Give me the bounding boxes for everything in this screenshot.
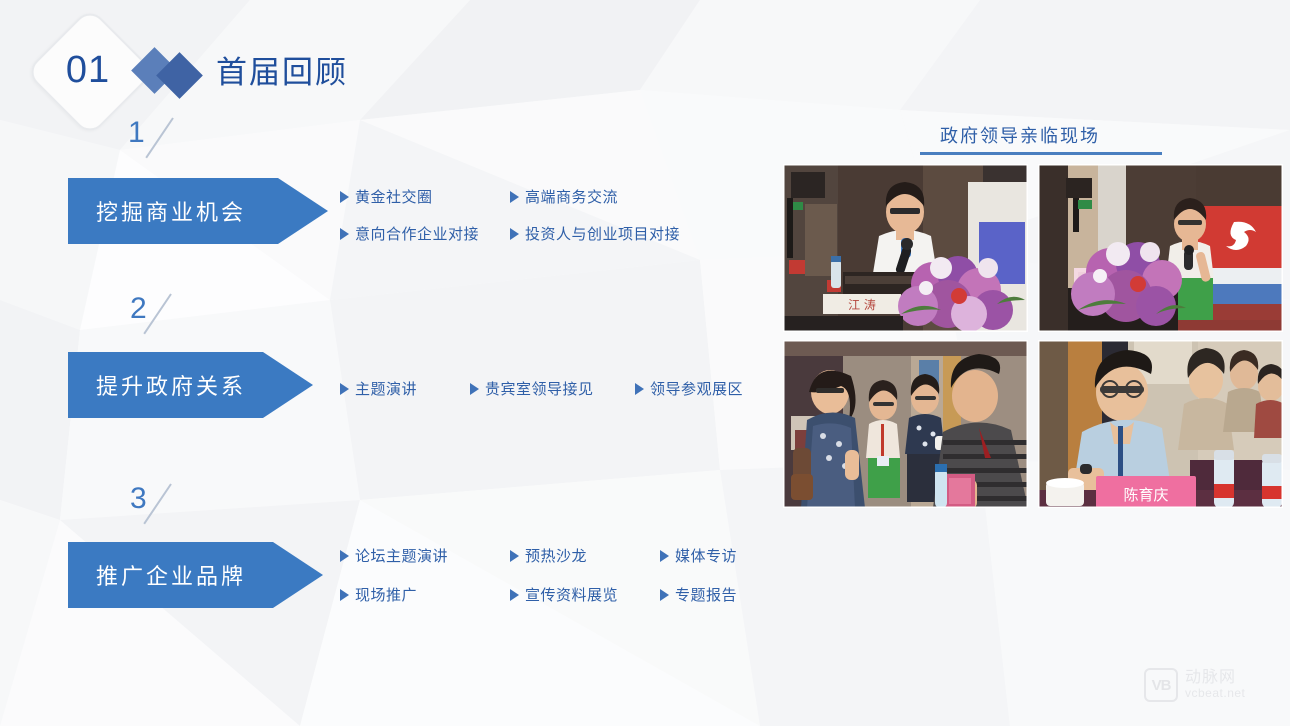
step-number-2: 2 [130, 294, 147, 324]
triangle-bullet-icon [510, 191, 519, 203]
bullet-label: 投资人与创业项目对接 [525, 223, 680, 244]
gallery-title: 政府领导亲临现场 [940, 122, 1100, 148]
watermark: VB 动脉网 vcbeat.net [1144, 668, 1245, 702]
bullet-item[interactable]: 高端商务交流 [510, 186, 618, 207]
section-arrow-1[interactable]: 挖掘商业机会 [68, 178, 328, 244]
triangle-bullet-icon [340, 550, 349, 562]
bullet-label: 主题演讲 [355, 378, 417, 399]
bullet-item[interactable]: 黄金社交圈 [340, 186, 510, 207]
bullet-item[interactable]: 领导参观展区 [635, 378, 743, 399]
section-number: 01 [44, 26, 132, 114]
bullet-label: 预热沙龙 [525, 545, 587, 566]
bullet-group-2: 主题演讲 贵宾室领导接见 领导参观展区 [340, 378, 743, 399]
watermark-logo-icon: VB [1144, 668, 1178, 702]
bullet-row: 现场推广 宣传资料展览 专题报告 [340, 584, 737, 605]
triangle-bullet-icon [660, 550, 669, 562]
watermark-name-cn: 动脉网 [1185, 670, 1245, 687]
bullet-label: 贵宾室领导接见 [485, 378, 594, 399]
triangle-bullet-icon [660, 589, 669, 601]
bullet-item[interactable]: 论坛主题演讲 [340, 545, 510, 566]
section-arrow-2[interactable]: 提升政府关系 [68, 352, 313, 418]
bullet-row: 主题演讲 贵宾室领导接见 领导参观展区 [340, 378, 743, 399]
bullet-row: 论坛主题演讲 预热沙龙 媒体专访 [340, 545, 737, 566]
triangle-bullet-icon [510, 589, 519, 601]
section-label-2: 提升政府关系 [68, 369, 246, 401]
triangle-bullet-icon [635, 383, 644, 395]
triangle-bullet-icon [470, 383, 479, 395]
photo-seated-attendee[interactable]: 陈育庆 [1038, 340, 1283, 508]
bullet-item[interactable]: 宣传资料展览 [510, 584, 660, 605]
bullet-group-3: 论坛主题演讲 预热沙龙 媒体专访 现场推广 宣传资料展览 专题报告 [340, 545, 737, 605]
diamond-decoration [136, 48, 210, 96]
triangle-bullet-icon [340, 228, 349, 240]
bullet-group-1: 黄金社交圈 高端商务交流 意向合作企业对接 投资人与创业项目对接 [340, 186, 680, 244]
bullet-row: 意向合作企业对接 投资人与创业项目对接 [340, 223, 680, 244]
gallery-title-underline [920, 152, 1162, 155]
page-title: 首届回顾 [216, 47, 348, 92]
watermark-logo-text: VB [1152, 677, 1171, 694]
bullet-item[interactable]: 现场推广 [340, 584, 510, 605]
triangle-bullet-icon [340, 383, 349, 395]
section-arrow-3[interactable]: 推广企业品牌 [68, 542, 323, 608]
bullet-label: 现场推广 [355, 584, 417, 605]
step-number-3: 3 [130, 484, 147, 514]
section-label-1: 挖掘商业机会 [68, 195, 246, 227]
bullet-label: 意向合作企业对接 [355, 223, 479, 244]
section-label-3: 推广企业品牌 [68, 559, 246, 591]
photo-speaker-podium[interactable]: 江 涛 [783, 164, 1028, 332]
bullet-item[interactable]: 投资人与创业项目对接 [510, 223, 680, 244]
photo-networking-group[interactable] [783, 340, 1028, 508]
triangle-bullet-icon [510, 550, 519, 562]
bullet-label: 专题报告 [675, 584, 737, 605]
triangle-bullet-icon [510, 228, 519, 240]
bullet-label: 高端商务交流 [525, 186, 618, 207]
bullet-item[interactable]: 主题演讲 [340, 378, 470, 399]
slide-root: 01 首届回顾 1 挖掘商业机会 黄金社交圈 高端商务交流 意向合作企业对接 [0, 0, 1290, 726]
svg-text:江 涛: 江 涛 [848, 297, 876, 312]
bullet-label: 媒体专访 [675, 545, 737, 566]
watermark-text: 动脉网 vcbeat.net [1185, 670, 1245, 699]
photo-grid: 江 涛 [783, 164, 1283, 508]
bullet-item[interactable]: 预热沙龙 [510, 545, 660, 566]
watermark-name-en: vcbeat.net [1185, 687, 1245, 700]
photo-speaker-banner[interactable] [1038, 164, 1283, 332]
bullet-label: 领导参观展区 [650, 378, 743, 399]
triangle-bullet-icon [340, 589, 349, 601]
bullet-item[interactable]: 贵宾室领导接见 [470, 378, 635, 399]
bullet-label: 宣传资料展览 [525, 584, 618, 605]
bullet-item[interactable]: 专题报告 [660, 584, 737, 605]
bullet-label: 论坛主题演讲 [355, 545, 448, 566]
bullet-label: 黄金社交圈 [355, 186, 433, 207]
triangle-bullet-icon [340, 191, 349, 203]
bullet-item[interactable]: 媒体专访 [660, 545, 737, 566]
bullet-row: 黄金社交圈 高端商务交流 [340, 186, 680, 207]
svg-text:陈育庆: 陈育庆 [1123, 486, 1168, 504]
step-number-1: 1 [128, 118, 145, 148]
bullet-item[interactable]: 意向合作企业对接 [340, 223, 510, 244]
